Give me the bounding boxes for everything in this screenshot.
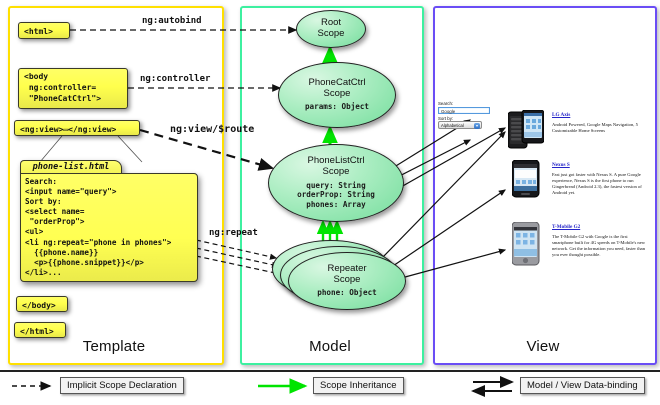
phone-thumbnail-nexus-s bbox=[512, 160, 540, 198]
note-body: Search: <input name="query"> Sort by: <s… bbox=[20, 173, 198, 282]
scope-repeater-props: phone: Object bbox=[317, 288, 376, 298]
scope-phonelistctrl-title-2: Scope bbox=[323, 167, 350, 178]
label-ng-repeat: ng:repeat bbox=[209, 228, 258, 238]
phone-snippet-2: Fast just got faster with Nexus S. A pur… bbox=[552, 172, 648, 196]
chevron-down-icon: ▾ bbox=[474, 123, 480, 129]
scope-repeater-title-2: Scope bbox=[334, 275, 361, 286]
caption-template: Template bbox=[8, 338, 220, 355]
legend-data-binding: Model / View Data-binding bbox=[520, 377, 645, 394]
phone-name-2[interactable]: Nexus S bbox=[552, 162, 570, 168]
phone-name-3[interactable]: T-Mobile G2 bbox=[552, 224, 580, 230]
code-html-open: <html> bbox=[18, 22, 70, 39]
label-ng-controller: ng:controller bbox=[140, 74, 210, 84]
sort-select[interactable]: Alphabetical ▾ bbox=[438, 121, 482, 129]
legend-scope-inheritance: Scope Inheritance bbox=[313, 377, 404, 394]
caption-view: View bbox=[433, 338, 653, 355]
phone-thumbnail-tmobile-g2 bbox=[512, 222, 540, 266]
code-body-open: <body ng:controller= "PhoneCatCtrl"> bbox=[18, 68, 128, 109]
scope-phonecatctrl-title-1: PhoneCatCtrl bbox=[308, 78, 365, 89]
note-title: phone-list.html bbox=[20, 160, 122, 174]
sort-select-value: Alphabetical bbox=[441, 123, 464, 128]
code-html-close: </html> bbox=[14, 322, 66, 338]
view-search-form: Search: Google Sort by: Alphabetical ▾ bbox=[438, 101, 490, 129]
phone-thumbnail-lg-axis bbox=[508, 110, 544, 150]
scope-repeater-title-1: Repeater bbox=[327, 264, 366, 275]
scope-root: Root Scope bbox=[296, 10, 366, 48]
caption-model: Model bbox=[240, 338, 420, 355]
scope-phonecatctrl: PhoneCatCtrl Scope params: Object bbox=[278, 62, 396, 128]
code-body-close: </body> bbox=[16, 296, 68, 312]
phone-snippet-3: The T-Mobile G2 with Google is the first… bbox=[552, 234, 648, 258]
scope-root-title-2: Scope bbox=[318, 29, 345, 40]
scope-phonelistctrl-props: query: String orderProp: String phones: … bbox=[297, 181, 375, 211]
code-ng-view: <ng:view>▭</ng:view> bbox=[14, 120, 140, 136]
note-phone-list-html: phone-list.html Search: <input name="que… bbox=[20, 160, 200, 290]
search-input[interactable]: Google bbox=[438, 107, 490, 114]
scope-phonecatctrl-props: params: Object bbox=[305, 102, 369, 112]
phone-name-1[interactable]: LG Axis bbox=[552, 112, 570, 118]
diagram-canvas: <html> <body ng:controller= "PhoneCatCtr… bbox=[0, 0, 660, 405]
phone-snippet-1: Android Powered, Google Maps Navigation,… bbox=[552, 122, 648, 134]
legend-implicit-scope: Implicit Scope Declaration bbox=[60, 377, 184, 394]
scope-phonecatctrl-title-2: Scope bbox=[324, 89, 351, 100]
label-ng-autobind: ng:autobind bbox=[142, 16, 202, 26]
scope-phonelistctrl: PhoneListCtrl Scope query: String orderP… bbox=[268, 144, 404, 222]
scope-repeater: Repeater Scope phone: Object bbox=[288, 252, 406, 310]
label-ng-view-route: ng:view/$route bbox=[170, 124, 254, 135]
legend: Implicit Scope Declaration Scope Inherit… bbox=[0, 372, 660, 405]
